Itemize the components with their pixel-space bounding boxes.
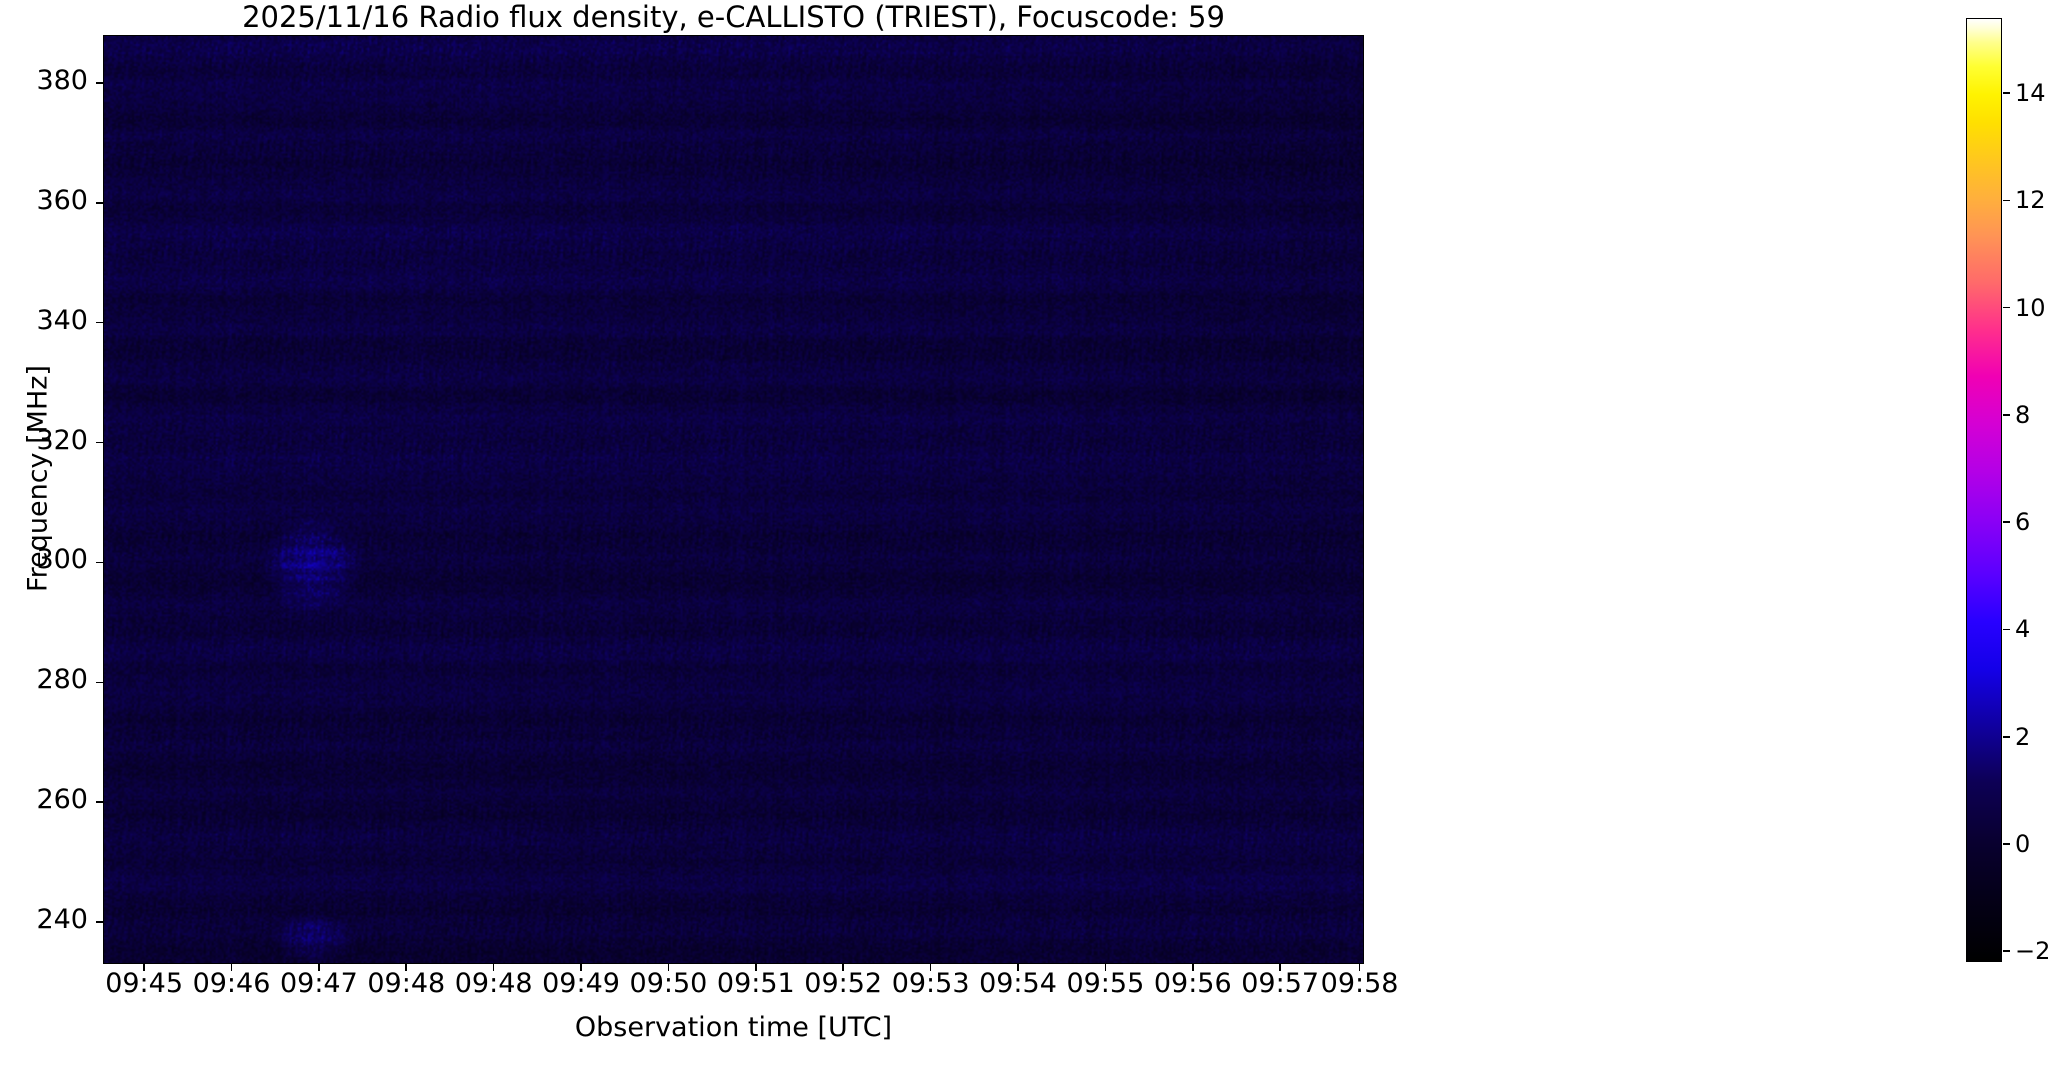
colorbar-tick-label: 4 [2015, 615, 2030, 643]
x-tick-label: 09:51 [717, 968, 795, 999]
colorbar-tick-mark [2003, 629, 2010, 631]
colorbar-tick-mark [2003, 521, 2010, 523]
colorbar-tick-label: 0 [2015, 830, 2030, 858]
x-tick-label: 09:45 [105, 968, 183, 999]
x-tick-label: 09:53 [892, 968, 970, 999]
colorbar-tick-label: 14 [2015, 79, 2046, 107]
x-tick-label: 09:47 [280, 968, 358, 999]
colorbar-tick-mark [2003, 843, 2010, 845]
colorbar-tick-label: 8 [2015, 401, 2030, 429]
y-tick-label: 300 [0, 544, 88, 575]
page-title: 2025/11/16 Radio flux density, e-CALLIST… [103, 0, 1364, 36]
colorbar-tick-mark [2003, 414, 2010, 416]
x-tick-label: 09:56 [1154, 968, 1232, 999]
y-tick-mark [96, 202, 103, 204]
spectrogram-image [104, 36, 1363, 963]
y-tick-label: 380 [0, 65, 88, 96]
spectrogram-plot-area [103, 35, 1364, 964]
y-tick-mark [96, 801, 103, 803]
y-tick-label: 280 [0, 664, 88, 695]
x-axis-label: Observation time [UTC] [103, 1012, 1364, 1043]
y-tick-mark [96, 682, 103, 684]
x-tick-label: 09:50 [630, 968, 708, 999]
colorbar-tick-label: 12 [2015, 186, 2046, 214]
x-tick-label: 09:46 [193, 968, 271, 999]
y-tick-label: 320 [0, 425, 88, 456]
colorbar-tick-label: 6 [2015, 508, 2030, 536]
colorbar [1966, 18, 2002, 962]
y-tick-label: 240 [0, 904, 88, 935]
colorbar-tick-label: −2 [2015, 937, 2050, 965]
x-tick-label: 09:55 [1066, 968, 1144, 999]
x-tick-label: 09:48 [367, 968, 445, 999]
y-tick-mark [96, 322, 103, 324]
y-tick-label: 340 [0, 305, 88, 336]
colorbar-tick-mark [2003, 200, 2010, 202]
y-tick-mark [96, 442, 103, 444]
colorbar-tick-mark [2003, 92, 2010, 94]
x-tick-label: 09:54 [979, 968, 1057, 999]
x-tick-label: 09:57 [1241, 968, 1319, 999]
y-tick-mark [96, 82, 103, 84]
colorbar-tick-mark [2003, 736, 2010, 738]
spectrogram-figure: 2025/11/16 Radio flux density, e-CALLIST… [0, 0, 2066, 1067]
colorbar-tick-label: 10 [2015, 294, 2046, 322]
x-tick-label: 09:52 [804, 968, 882, 999]
colorbar-tick-label: 2 [2015, 723, 2030, 751]
y-tick-label: 360 [0, 185, 88, 216]
y-tick-label: 260 [0, 784, 88, 815]
y-tick-mark [96, 921, 103, 923]
x-tick-label: 09:49 [542, 968, 620, 999]
y-tick-mark [96, 562, 103, 564]
colorbar-gradient [1967, 19, 2001, 961]
colorbar-tick-mark [2003, 950, 2010, 952]
x-tick-label: 09:48 [455, 968, 533, 999]
colorbar-tick-mark [2003, 307, 2010, 309]
x-tick-label: 09:58 [1321, 968, 1399, 999]
